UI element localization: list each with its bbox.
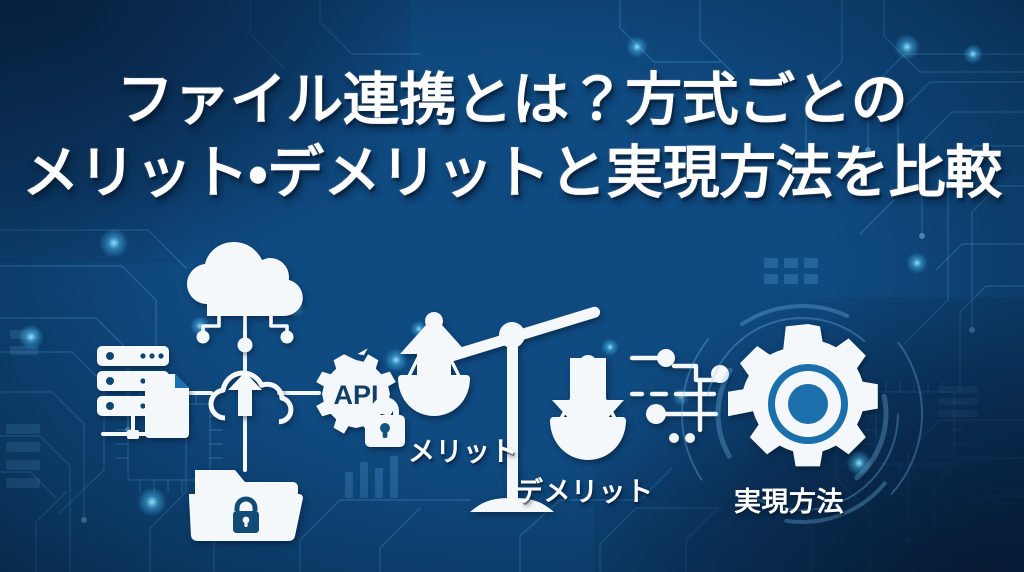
api-gear-icon: API	[316, 348, 405, 447]
server-stack-icon	[97, 346, 189, 439]
title-line-2: メリット・デメリットと実現方法を比較	[0, 137, 1024, 210]
caption-demerit: デメリット	[516, 470, 654, 509]
file-integration-diagram: API	[95, 242, 395, 522]
settings-gear-icon	[728, 318, 888, 478]
settings-gear-group: 実現方法	[722, 318, 902, 528]
locked-folder-icon	[189, 470, 303, 541]
icon-band: API	[0, 236, 1024, 536]
page-title: ファイル連携とは？方式ごとの メリット・デメリットと実現方法を比較	[0, 64, 1024, 210]
document-icon	[145, 374, 189, 438]
caption-merit: メリット	[408, 430, 518, 469]
api-label: API	[333, 380, 378, 410]
caption-method: 実現方法	[734, 480, 844, 519]
title-line-1: ファイル連携とは？方式ごとの	[0, 64, 1024, 137]
cloud-upload-hub-icon	[211, 372, 291, 422]
cloud-network-icon	[187, 242, 303, 353]
balance-scale-group: メリット デメリット	[398, 312, 638, 534]
hero-banner: ファイル連携とは？方式ごとの メリット・デメリットと実現方法を比較	[0, 0, 1024, 572]
